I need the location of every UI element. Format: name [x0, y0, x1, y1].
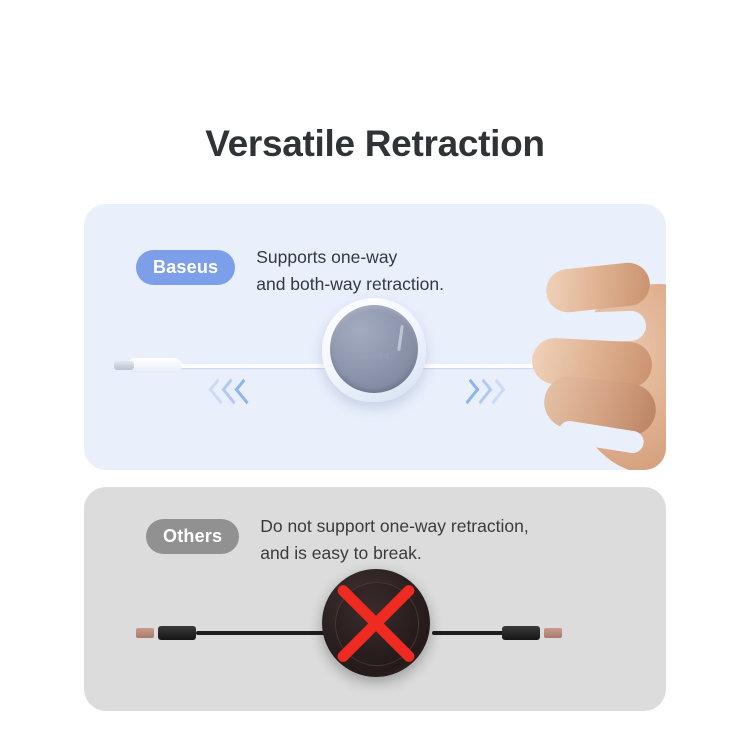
chevron-left-icon	[235, 379, 256, 405]
baseus-comparison-panel: baseus Baseus Supports one-way	[84, 204, 666, 470]
baseus-badge: Baseus	[136, 250, 235, 285]
dark-cable-reel-device	[322, 569, 430, 677]
connector-metal-tip	[544, 628, 562, 638]
connector-shell	[502, 626, 540, 640]
usb-c-connector-left-icon	[114, 356, 182, 375]
retract-arrows-left	[212, 382, 251, 401]
others-label-row: Others Do not support one-way retraction…	[146, 513, 529, 566]
connector-tip	[114, 361, 134, 370]
connector-body	[128, 358, 182, 373]
dark-cable-segment-left	[196, 631, 328, 635]
others-badge: Others	[146, 519, 239, 554]
reel-brand-text: baseus	[360, 352, 389, 361]
cable-reel-device: baseus	[322, 298, 426, 402]
baseus-label-row: Baseus Supports one-way and both-way ret…	[136, 244, 444, 297]
hand-illustration	[524, 262, 666, 470]
reel-slot	[397, 325, 404, 351]
dark-connector-right-icon	[502, 623, 562, 643]
others-comparison-panel: Others Do not support one-way retraction…	[84, 487, 666, 711]
page-title: Versatile Retraction	[0, 122, 750, 166]
reel-face: baseus	[330, 305, 418, 393]
connector-metal-tip	[136, 628, 154, 638]
cable-segment-left	[176, 364, 331, 368]
connector-shell	[158, 626, 196, 640]
chevron-right-icon	[485, 379, 506, 405]
baseus-caption: Supports one-way and both-way retraction…	[256, 244, 444, 297]
retract-arrows-right	[462, 382, 501, 401]
others-caption: Do not support one-way retraction, and i…	[260, 513, 528, 566]
dark-connector-left-icon	[136, 623, 196, 643]
